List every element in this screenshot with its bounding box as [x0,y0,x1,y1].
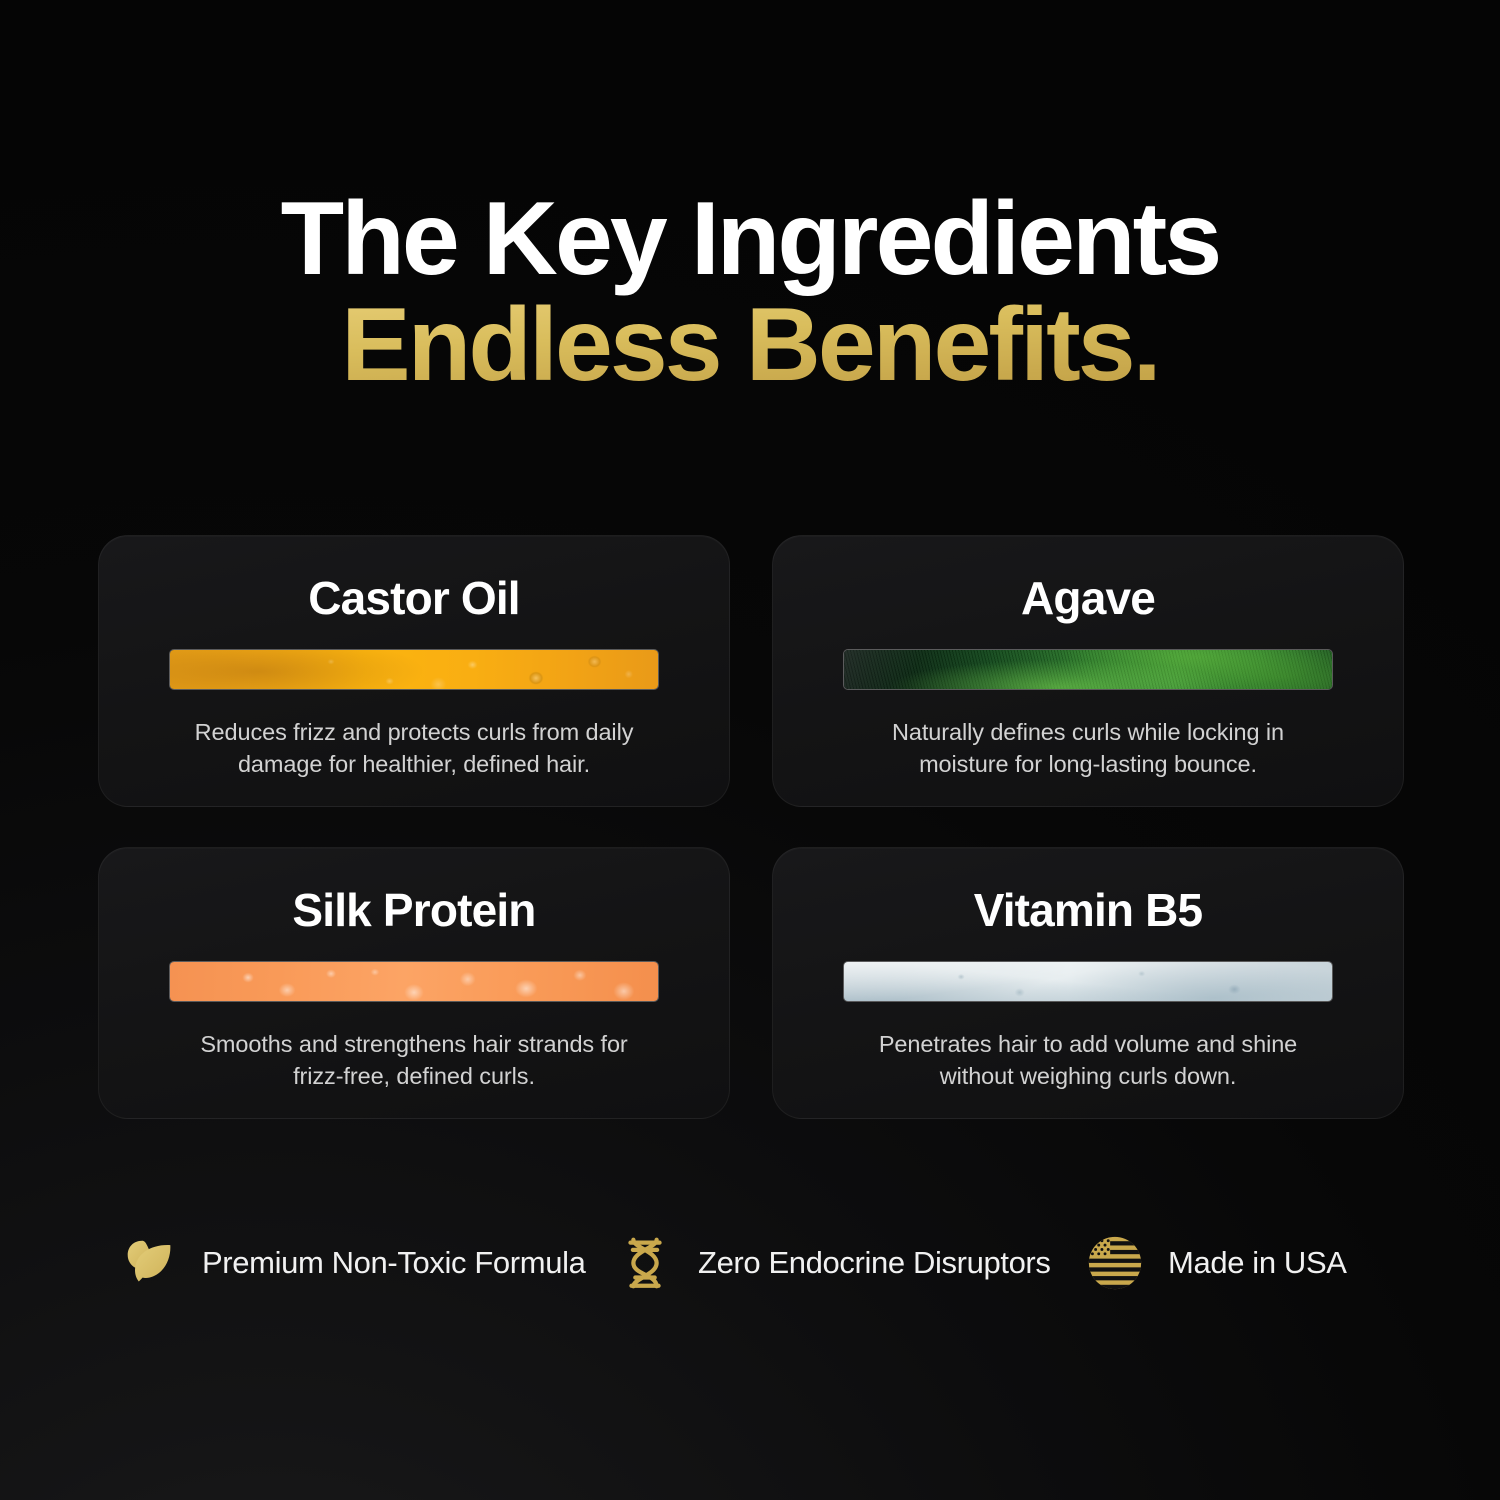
card-title: Agave [1021,574,1155,622]
badge-premium-non-toxic-formula: Premium Non-Toxic Formula [98,1232,614,1294]
ingredient-card-castor-oil[interactable]: Castor Oil Reduces frizz and protects cu… [98,535,730,807]
ingredient-card-silk-protein[interactable]: Silk Protein Smooths and strengthens hai… [98,847,730,1119]
card-description: Smooths and strengthens hair strands for… [179,1029,649,1092]
page-title: The Key Ingredients Endless Benefits. [0,186,1500,398]
card-title: Castor Oil [308,574,520,622]
card-description: Penetrates hair to add volume and shine … [853,1029,1323,1092]
headline-line-accent: Endless Benefits. [0,292,1500,398]
ingredients-poster: The Key Ingredients Endless Benefits. Ca… [0,0,1500,1500]
card-title: Vitamin B5 [974,886,1203,934]
vitamin-b5-water-texture-image [844,962,1332,1001]
castor-oil-texture-image [170,650,658,689]
ingredient-card-agave[interactable]: Agave Naturally defines curls while lock… [772,535,1404,807]
trust-badge-row: Premium Non-Toxic Formula Zero Endocrine… [98,1232,1404,1294]
badge-label: Zero Endocrine Disruptors [698,1245,1051,1281]
card-description: Naturally defines curls while locking in… [853,717,1323,780]
silk-protein-texture-image [170,962,658,1001]
silk-protein-texture [169,961,659,1002]
headline-line-primary: The Key Ingredients [0,186,1500,292]
badge-made-in-usa: Made in USA [1084,1232,1404,1294]
ingredient-card-grid: Castor Oil Reduces frizz and protects cu… [98,535,1404,1119]
badge-zero-endocrine-disruptors: Zero Endocrine Disruptors [614,1232,1084,1294]
agave-leaves-texture-image [844,650,1332,689]
badge-label: Made in USA [1168,1245,1347,1281]
usa-flag-icon [1084,1232,1146,1294]
card-title: Silk Protein [292,886,535,934]
castor-oil-texture [169,649,659,690]
badge-label: Premium Non-Toxic Formula [202,1245,585,1281]
dna-helix-icon [614,1232,676,1294]
card-description: Reduces frizz and protects curls from da… [179,717,649,780]
vitamin-b5-water-texture [843,961,1333,1002]
leaf-icon [118,1232,180,1294]
agave-leaves-texture [843,649,1333,690]
ingredient-card-vitamin-b5[interactable]: Vitamin B5 Penetrates hair to add volume… [772,847,1404,1119]
